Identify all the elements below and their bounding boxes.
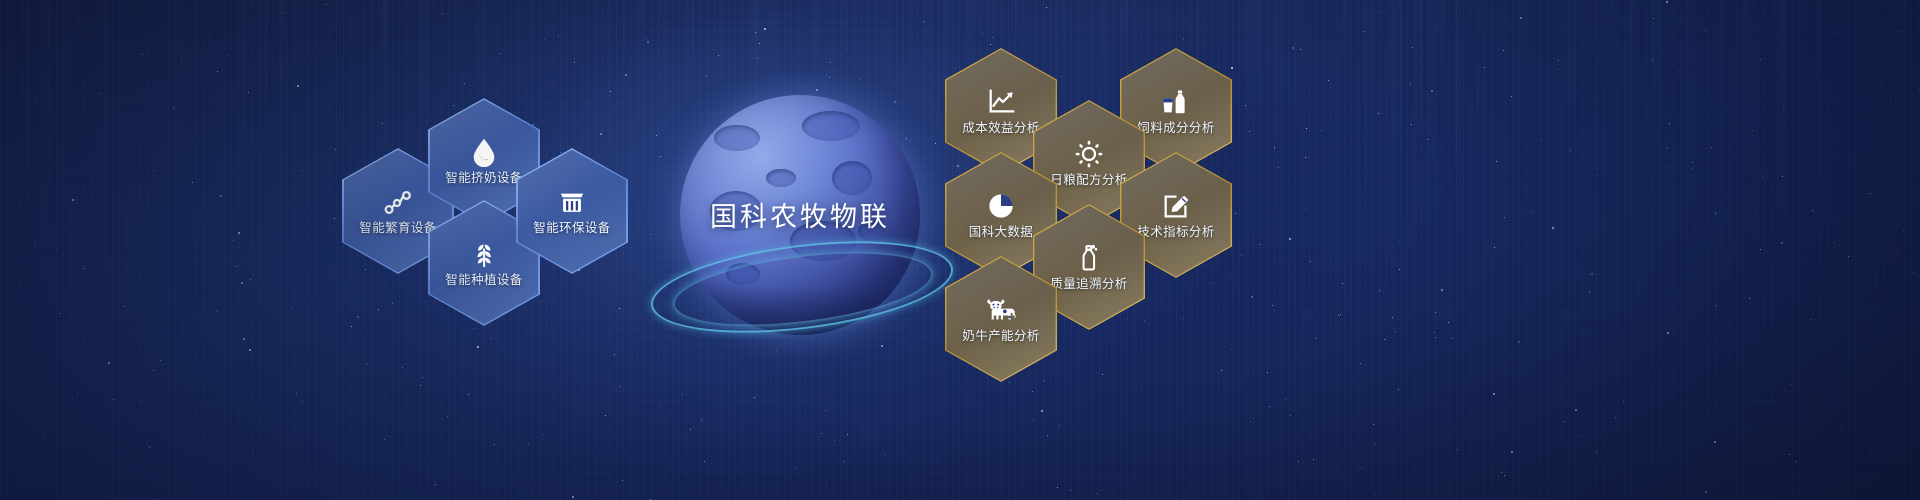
banner-stage: 智能繁育设备智能挤奶设备智能种植设备智能环保设备 国科农牧物联 成本效益分析饲料… (0, 0, 1920, 500)
vignette-overlay (0, 0, 1920, 500)
